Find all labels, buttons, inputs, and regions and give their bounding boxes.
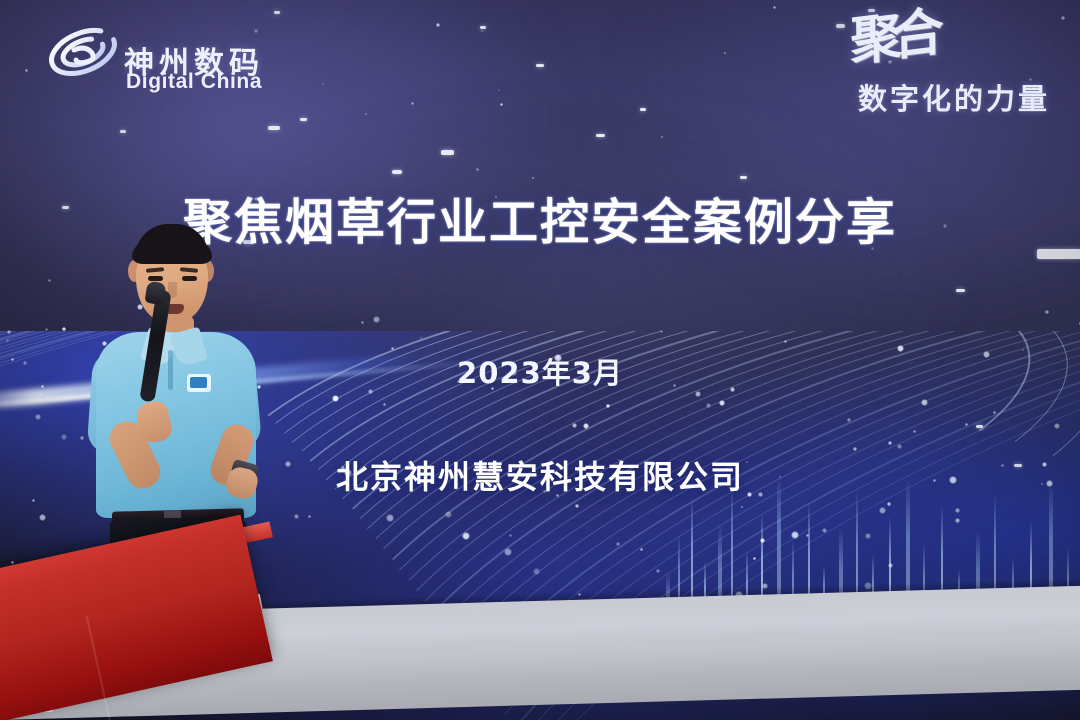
event-logo-calligraphy: 聚合 [850, 9, 934, 69]
event-logo-subtitle: 数字化的力量 [858, 76, 1050, 118]
digital-china-english-name: Digital China [126, 70, 262, 94]
digital-china-logo: 神州数码 Digital China [44, 18, 312, 94]
digital-china-swirl-icon [44, 20, 122, 84]
speaker-shirt-logo-mark [190, 377, 207, 388]
speaker-eye-left [148, 276, 163, 281]
event-logo: 聚合 数字化的力量 [802, 14, 1064, 118]
speaker-eye-right [182, 276, 197, 281]
conference-stage-photo: 神州数码 Digital China 聚合 数字化的力量 聚焦烟草行业工控安全案… [0, 0, 1080, 720]
microphone-head-icon [144, 281, 166, 306]
speaker-shirt-placket [168, 350, 173, 390]
speaker-fringe [132, 236, 212, 264]
